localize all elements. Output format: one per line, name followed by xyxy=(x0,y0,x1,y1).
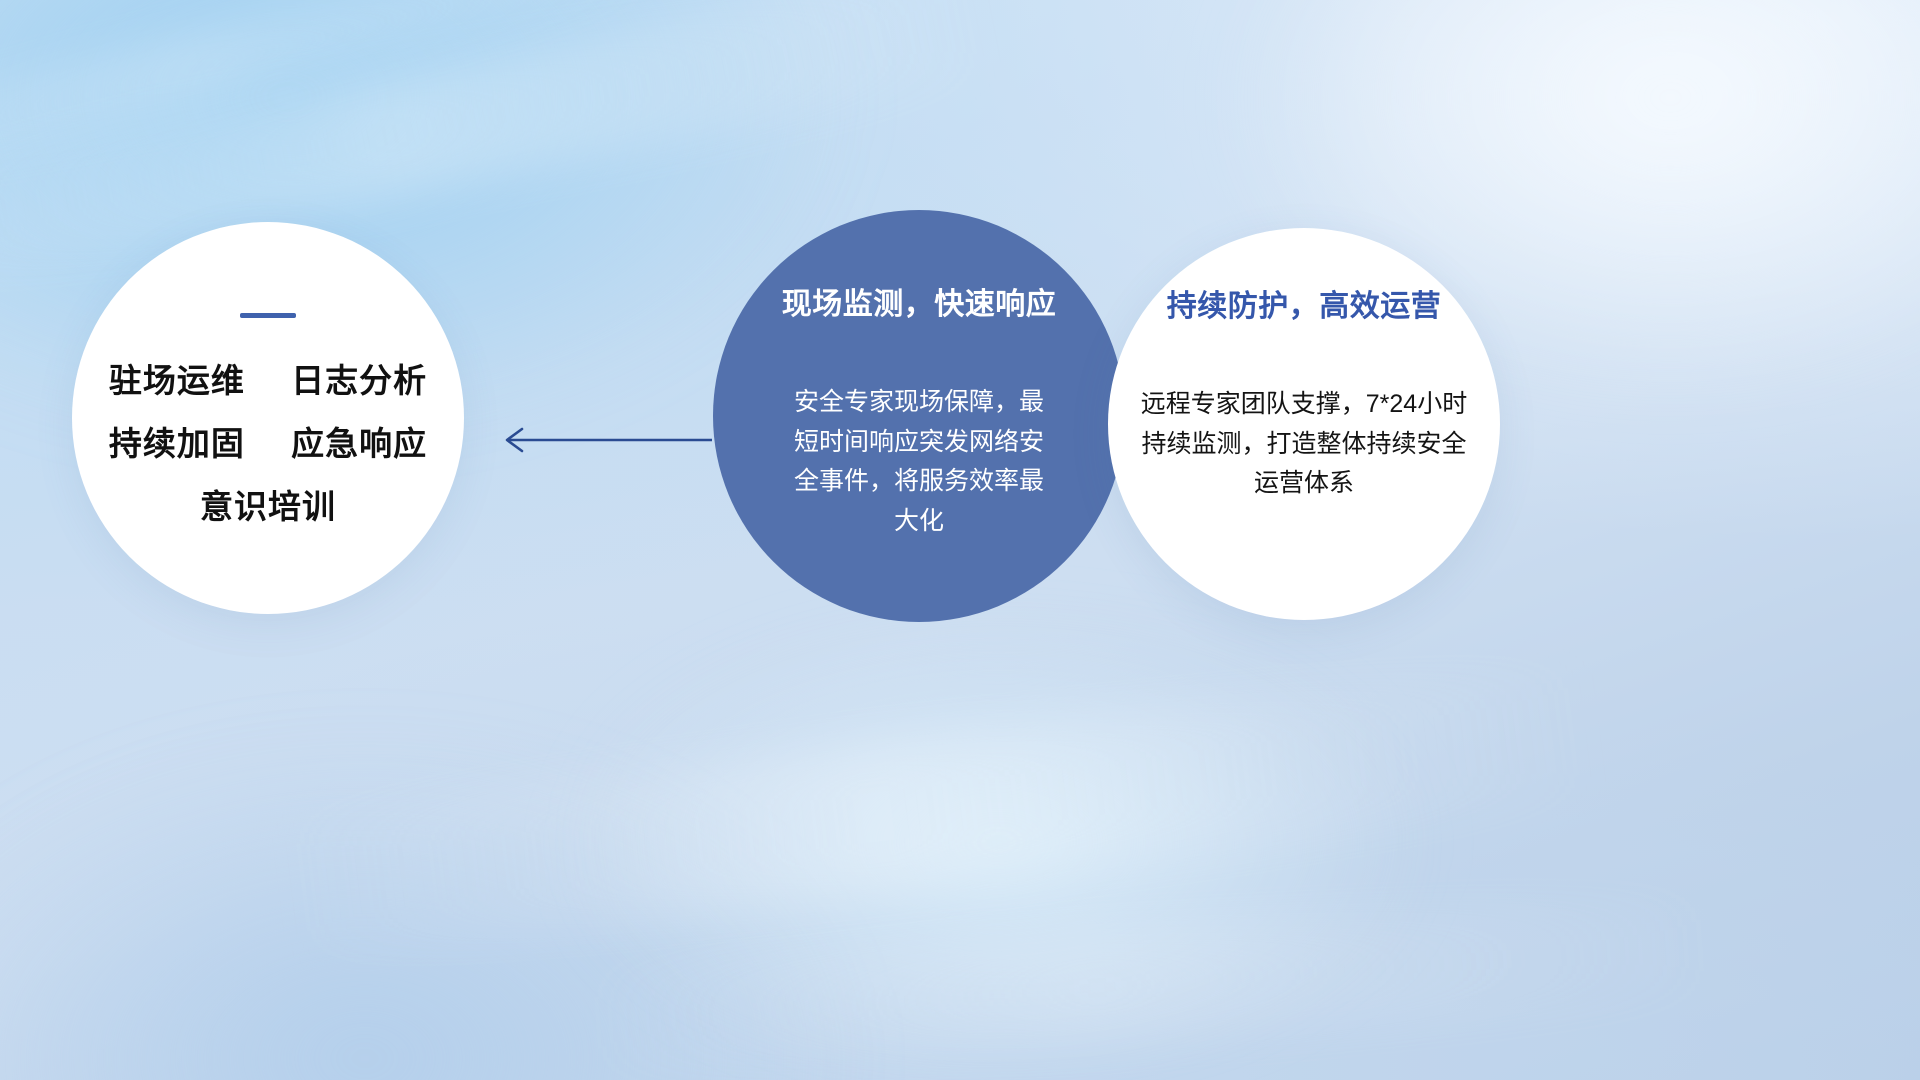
middle-circle-body: 安全专家现场保障，最短时间响应突发网络安全事件，将服务效率最大化 xyxy=(785,383,1053,541)
dash-accent-icon xyxy=(240,313,296,318)
middle-circle-title: 现场监测，快速响应 xyxy=(782,288,1057,321)
arrow-pointing-left-icon xyxy=(486,418,712,462)
capability-label: 驻场运维 xyxy=(109,362,245,399)
list-item: 意识培训 xyxy=(109,490,427,523)
capability-label: 意识培训 xyxy=(200,488,336,525)
right-circle-title: 持续防护，高效运营 xyxy=(1167,290,1442,323)
list-item: 持续加固 应急响应 xyxy=(109,427,427,460)
left-capability-circle[interactable]: 驻场运维 日志分析 持续加固 应急响应 意识培训 xyxy=(72,222,464,614)
capability-label: 持续加固 xyxy=(109,425,245,462)
right-operations-circle[interactable]: 持续防护，高效运营 远程专家团队支撑，7*24小时持续监测，打造整体持续安全运营… xyxy=(1108,228,1500,620)
capability-label: 应急响应 xyxy=(291,425,427,462)
right-circle-body: 远程专家团队支撑，7*24小时持续监测，打造整体持续安全运营体系 xyxy=(1139,385,1469,504)
left-capability-list: 驻场运维 日志分析 持续加固 应急响应 意识培训 xyxy=(109,364,427,523)
middle-onsite-circle[interactable]: 现场监测，快速响应 安全专家现场保障，最短时间响应突发网络安全事件，将服务效率最… xyxy=(713,210,1125,622)
list-item: 驻场运维 日志分析 xyxy=(109,364,427,397)
capability-label: 日志分析 xyxy=(291,362,427,399)
